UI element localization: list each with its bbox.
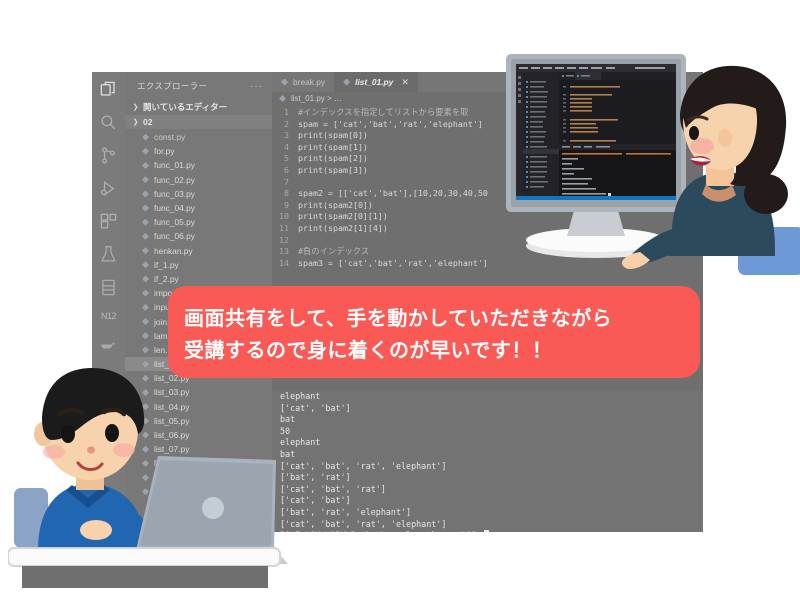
editor-tab[interactable]: list_01.py✕ [334,72,418,92]
testing-flask-icon[interactable] [99,245,118,264]
file-tree-item-label: func_04.py [154,203,195,213]
file-tree-item-label: func_02.py [154,175,195,185]
code-line-text: spam = ['cat','bat','rat','elephant'] [298,119,483,131]
code-line-text: print(spam[2]) [298,153,368,165]
sidebar-open-editors[interactable]: ❯ 開いているエディター [125,99,272,115]
code-line-text: print(spam[0]) [298,130,368,142]
terminal-line: ['cat', 'bat', 'rat', 'elephant'] [280,519,703,531]
docker-icon[interactable] [99,335,118,354]
python-file-icon [142,247,149,254]
code-line-text: #負のインデックス [298,246,369,258]
breadcrumb-label: list_01.py > … [291,94,342,103]
terminal-line: ['bat', 'rat', 'elephant'] [280,507,703,519]
line-number: 14 [272,258,298,270]
editor-tab-label: list_01.py [355,77,393,87]
python-file-icon [343,79,350,86]
line-number: 12 [272,235,298,247]
terminal-line: elephant [280,391,703,403]
file-tree-item[interactable]: const.py [125,130,272,144]
file-tree-item[interactable]: for.py [125,144,272,158]
sidebar-title-row: エクスプローラー ··· [125,72,272,99]
folder-label: 02 [143,117,152,127]
close-icon[interactable]: ✕ [401,77,409,88]
python-file-icon [142,219,149,226]
n12-icon[interactable]: N12 [101,311,116,321]
extensions-icon[interactable] [99,212,118,231]
file-tree-item[interactable]: func_04.py [125,201,272,215]
chevron-right-icon: ❯ [131,103,140,111]
integrated-terminal[interactable]: elephant['cat', 'bat']bat50elephantbat['… [272,390,703,532]
man-laptop-illustration [8,360,298,590]
line-number: 13 [272,246,298,258]
sidebar-title: エクスプローラー [137,80,207,92]
file-tree-item[interactable]: func_02.py [125,173,272,187]
code-line-text: print(spam2[1][4]) [298,223,388,235]
file-tree-item-label: func_05.py [154,217,195,227]
code-line-text: spam3 = ['cat','bat','rat','elephant'] [298,258,488,270]
python-file-icon [142,304,149,311]
line-number: 3 [272,130,298,142]
line-number: 7 [272,177,298,189]
woman-illustration [620,42,800,292]
file-tree-item[interactable]: func_01.py [125,158,272,172]
file-tree-item[interactable]: henkan.py [125,244,272,258]
open-editors-label: 開いているエディター [143,101,227,113]
file-tree-item[interactable]: func_05.py [125,215,272,229]
red-callout-banner: 画面共有をして、手を動かしていただきながら 受講するので身に着くのが早いです！！ [168,286,700,378]
code-line-text: print(spam2[0]) [298,200,373,212]
python-file-icon [279,95,286,102]
file-tree-item[interactable]: if_1.py [125,258,272,272]
line-number: 9 [272,200,298,212]
file-tree-item-label: func_03.py [154,189,195,199]
line-number: 1 [272,107,298,119]
file-tree-item-label: func_01.py [154,160,195,170]
python-file-icon [281,79,288,86]
explorer-icon[interactable] [99,80,118,99]
file-tree-item-label: for.py [154,146,174,156]
terminal-prompt: PS E:\SV-WORK\Python\excel_python_sa\02> [280,530,703,532]
database-icon[interactable] [99,278,118,297]
file-tree-item[interactable]: if_2.py [125,272,272,286]
terminal-line: 50 [280,426,703,438]
file-tree-item-label: func_06.py [154,231,195,241]
code-line-text: print(spam[3]) [298,165,368,177]
line-number: 10 [272,211,298,223]
python-file-icon [142,318,149,325]
terminal-line: ['cat', 'bat'] [280,403,703,415]
terminal-line: elephant [280,437,703,449]
file-tree-item[interactable]: func_03.py [125,187,272,201]
terminal-line: ['cat', 'bat', 'rat', 'elephant'] [280,461,703,473]
code-line-text: print(spam[1]) [298,142,368,154]
python-file-icon [142,205,149,212]
editor-tab-label: break.py [293,77,325,87]
code-line-text: print(spam2[0][1]) [298,211,388,223]
python-file-icon [142,332,149,339]
code-line-text: #インデックスを指定してリストから要素を取 [298,107,468,119]
terminal-line: bat [280,449,703,461]
python-file-icon [142,233,149,240]
python-file-icon [142,261,149,268]
run-debug-icon[interactable] [99,179,118,198]
terminal-line: ['bat', 'rat'] [280,472,703,484]
line-number: 2 [272,119,298,131]
line-number: 4 [272,142,298,154]
banner-line-2: 受講するので身に着くのが早いです！！ [184,334,700,363]
line-number: 8 [272,188,298,200]
sidebar-folder-02[interactable]: ❯ 02 [125,115,272,129]
search-icon[interactable] [99,113,118,132]
python-file-icon [142,290,149,297]
python-file-icon [142,176,149,183]
file-tree-item-label: if_2.py [154,274,179,284]
file-tree-item-label: const.py [154,132,185,142]
terminal-line: ['cat', 'bat', 'rat'] [280,484,703,496]
sidebar-more-actions-icon[interactable]: ··· [250,81,263,92]
line-number: 6 [272,165,298,177]
python-file-icon [142,148,149,155]
editor-tab[interactable]: break.py [272,72,334,92]
python-file-icon [142,162,149,169]
file-tree-item-label: if_1.py [154,260,179,270]
line-number: 11 [272,223,298,235]
terminal-line: ['cat', 'bat'] [280,495,703,507]
file-tree-item[interactable]: func_06.py [125,229,272,243]
python-file-icon [142,275,149,282]
file-tree-item-label: henkan.py [154,246,193,256]
python-file-icon [142,134,149,141]
code-line-text: spam2 = [['cat','bat'],[10,20,30,40,50 [298,188,488,200]
source-control-icon[interactable] [99,146,118,165]
python-file-icon [142,346,149,353]
terminal-line: bat [280,414,703,426]
python-file-icon [142,190,149,197]
screenshot-root: N12 エクスプローラー ··· ❯ 開いているエディター ❯ 02 const… [0,0,800,600]
chevron-down-icon: ❯ [131,118,140,126]
line-number: 5 [272,153,298,165]
terminal-caret [484,530,489,532]
banner-line-1: 画面共有をして、手を動かしていただきながら [184,302,700,331]
